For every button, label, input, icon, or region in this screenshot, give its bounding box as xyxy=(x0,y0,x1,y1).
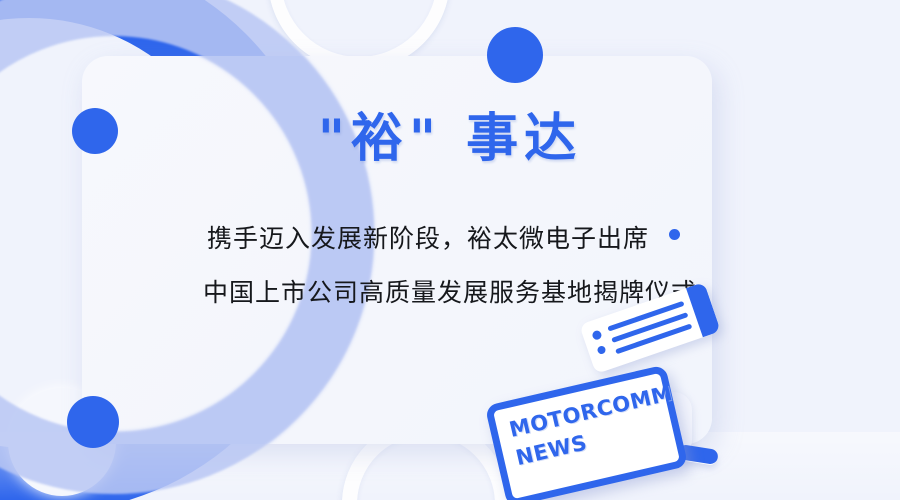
blue-dot-lower-left-accent xyxy=(67,396,119,448)
news-badge-text: MOTORCOMM NEWS xyxy=(507,380,678,473)
page-title: "裕" 事达 xyxy=(0,96,900,171)
document-bullet-icon xyxy=(596,345,606,355)
blue-dot-top-accent xyxy=(487,27,543,83)
subtitle-line-1: 携手迈入发展新阶段，裕太微电子出席 xyxy=(0,219,878,255)
document-bullet-icon xyxy=(591,329,602,340)
news-poster: "裕" 事达 携手迈入发展新阶段，裕太微电子出席 中国上市公司高质量发展服务基地… xyxy=(0,0,900,500)
subtitle-line-2: 中国上市公司高质量发展服务基地揭牌仪式 xyxy=(0,273,900,309)
